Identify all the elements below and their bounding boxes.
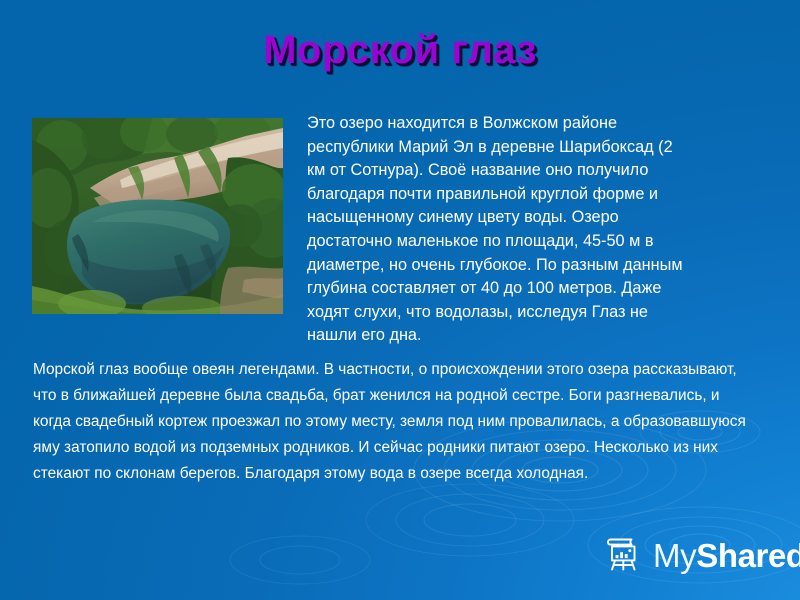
intro-paragraph: Это озеро находится в Волжском районе ре…: [307, 112, 695, 348]
myshared-logo-shared: Shared: [696, 537, 800, 574]
presentation-easel-chart-icon: [604, 535, 644, 575]
legend-paragraph: Морской глаз вообще овеян легендами. В ч…: [33, 357, 747, 487]
presentation-slide: Морской глаз: [0, 0, 800, 600]
myshared-logo-text: MyShared: [653, 539, 800, 572]
lake-photo: [32, 118, 283, 314]
lake-photo-image: [32, 118, 283, 314]
myshared-logo-my: My: [653, 537, 696, 574]
myshared-logo[interactable]: MyShared: [604, 535, 800, 575]
slide-title: Морской глаз: [0, 28, 800, 73]
